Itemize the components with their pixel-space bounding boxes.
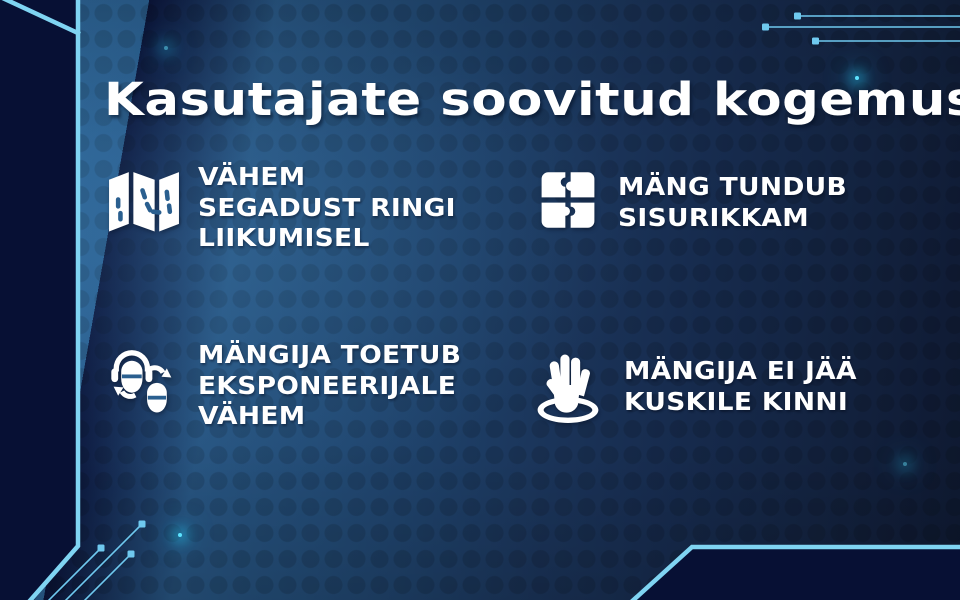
bottom-left-traces	[20, 524, 142, 600]
bottom-right-cyan-edge	[618, 547, 960, 600]
feature-label-stuck: MÄNGIJA EI JÄÄ KUSKILE KINNI	[624, 350, 857, 417]
top-right-traces	[766, 16, 960, 41]
top-right-trace-nodes	[762, 13, 819, 45]
left-panel-cyan-edge	[20, 0, 78, 600]
left-panel-top-bevel	[0, 0, 80, 34]
feature-item-stuck: MÄNGIJA EI JÄÄ KUSKILE KINNI	[528, 350, 938, 426]
bottom-right-navy-panel	[620, 546, 960, 600]
glow-dot-bottom-left	[178, 533, 182, 537]
feature-label-content: MÄNG TUNDUB SISURIKKAM	[618, 166, 847, 233]
left-navy-panel	[0, 0, 78, 600]
feature-label-support: MÄNGIJA TOETUB EKSPONEERIJALE VÄHEM	[198, 338, 461, 432]
slide-canvas: Kasutajate soovitud kogemus	[0, 0, 960, 600]
glow-dot-lower-right	[903, 462, 907, 466]
feature-label-navigation: VÄHEM SEGADUST RINGI LIIKUMISEL	[198, 160, 456, 254]
feature-item-support: MÄNGIJA TOETUB EKSPONEERIJALE VÄHEM	[106, 338, 536, 432]
folded-map-icon	[106, 160, 182, 236]
feature-item-content: MÄNG TUNDUB SISURIKKAM	[534, 166, 934, 234]
player-operator-support-icon	[106, 338, 182, 414]
bottom-left-trace-nodes	[98, 521, 146, 558]
glow-dot-upper-left	[164, 46, 168, 50]
puzzle-pieces-icon	[534, 166, 602, 234]
feature-item-navigation: VÄHEM SEGADUST RINGI LIIKUMISEL	[106, 160, 506, 254]
hand-reaching-out-icon	[528, 350, 608, 426]
page-title: Kasutajate soovitud kogemus	[104, 73, 960, 126]
